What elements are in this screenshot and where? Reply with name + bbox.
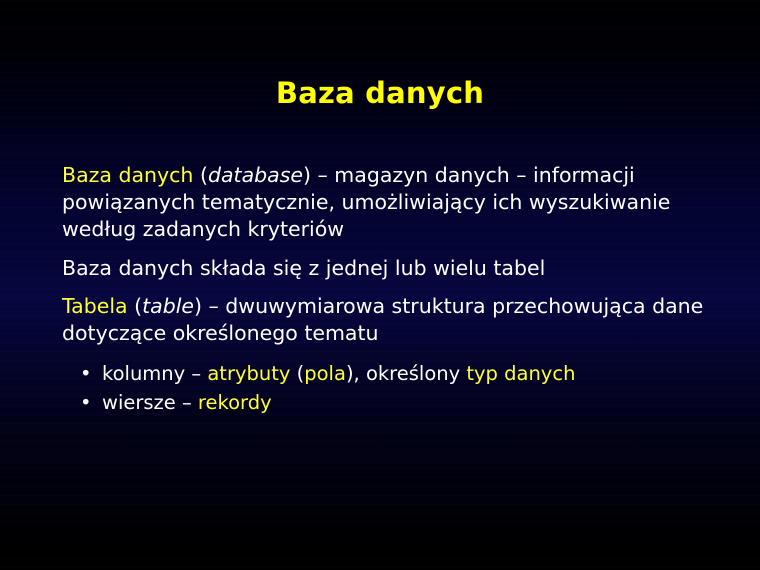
bullet-1-highlight-pola: pola bbox=[304, 362, 346, 385]
term-table-italic: table bbox=[142, 294, 194, 318]
bullet-1-paren-open: ( bbox=[290, 362, 304, 385]
bullet-1-highlight-typ-danych: typ danych bbox=[466, 362, 575, 385]
definition-paragraph-table: Tabela (table) – dwuwymiarowa struktura … bbox=[62, 293, 710, 347]
statement-paragraph-tables: Baza danych składa się z jednej lub wiel… bbox=[62, 255, 710, 282]
term-database-italic: database bbox=[208, 163, 303, 187]
bullet-point-icon: • bbox=[80, 359, 92, 388]
list-item: •kolumny – atrybuty (pola), określony ty… bbox=[62, 359, 710, 388]
slide-body: Baza danych (database) – magazyn danych … bbox=[62, 162, 710, 417]
bullet-1-segment-1: kolumny – bbox=[102, 362, 207, 385]
paren-open-2: ( bbox=[128, 294, 143, 318]
paren-open-1: ( bbox=[193, 163, 208, 187]
bullet-list: •kolumny – atrybuty (pola), określony ty… bbox=[62, 359, 710, 417]
bullet-2-highlight-rekordy: rekordy bbox=[198, 391, 272, 414]
bullet-point-icon: • bbox=[80, 388, 92, 417]
list-item: •wiersze – rekordy bbox=[62, 388, 710, 417]
term-tabela: Tabela bbox=[62, 294, 128, 318]
paren-close-2: ) bbox=[194, 294, 202, 318]
definition-paragraph-database: Baza danych (database) – magazyn danych … bbox=[62, 162, 710, 243]
bullet-2-segment-1: wiersze – bbox=[102, 391, 198, 414]
slide-title: Baza danych bbox=[0, 76, 760, 110]
bullet-1-segment-3: ), określony bbox=[346, 362, 466, 385]
presentation-slide: Baza danych Baza danych (database) – mag… bbox=[0, 0, 760, 570]
bullet-1-highlight-atrybuty: atrybuty bbox=[207, 362, 290, 385]
paren-close-1: ) bbox=[303, 163, 311, 187]
term-baza-danych: Baza danych bbox=[62, 163, 193, 187]
